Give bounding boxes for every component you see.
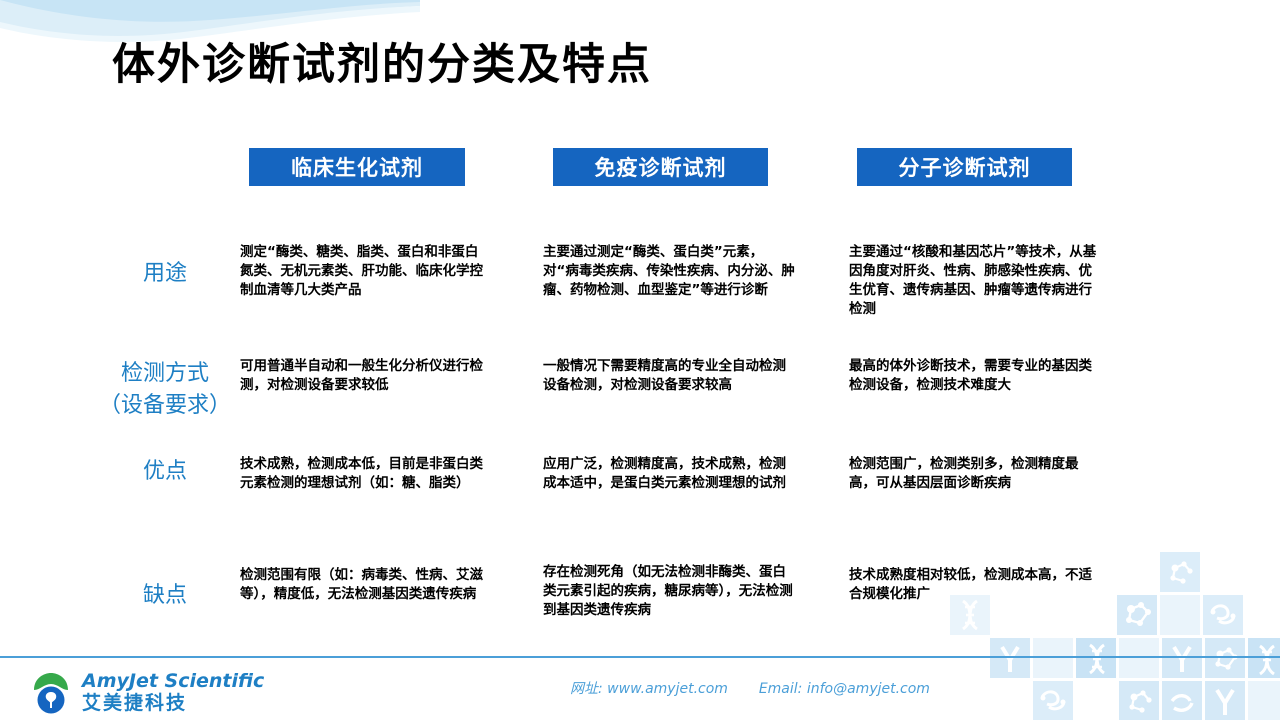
amyjet-logo-icon [28,670,74,714]
protein-icon [1033,681,1073,720]
footer-divider [0,656,1280,658]
brand-name-en: AmyJet Scientific [82,672,264,691]
column-header-molecular-diagnostic: 分子诊断试剂 [857,148,1072,186]
row-label-usage: 用途 [75,258,255,290]
molecule-icon [1117,595,1157,635]
blank-tile [1248,681,1280,720]
brand-name-cn: 艾美捷科技 [82,694,264,713]
molecule-icon [1160,552,1200,592]
table-cell-disadvantage-molecular: 技术成熟度相对较低，检测成本高，不适合规模化推广 [849,566,1101,604]
column-header-clinical-biochemistry: 临床生化试剂 [249,148,465,186]
dna-helix-icon [1248,638,1280,678]
brand-logo-text: AmyJet Scientific 艾美捷科技 [82,672,264,713]
email-address[interactable]: info@amyjet.com [807,681,930,697]
molecule-icon [1119,681,1159,720]
email-label: Email: [759,681,803,697]
row-label-advantages: 优点 [75,456,255,488]
blank-tile [1033,638,1073,678]
protein-icon [1162,681,1202,720]
row-label-detection-method-line1: 检测方式 [75,358,255,390]
table-cell-usage-immuno: 主要通过测定“酶类、蛋白类”元素，对“病毒类疾病、传染性疾病、内分泌、肿瘤、药物… [543,243,795,300]
antibody-icon [1162,638,1202,678]
website-url[interactable]: www.amyjet.com [607,681,728,697]
column-header-immunodiagnostic: 免疫诊断试剂 [553,148,768,186]
table-cell-advantage-immuno: 应用广泛，检测精度高，技术成熟，检测成本适中，是蛋白类元素检测理想的试剂 [543,455,795,493]
table-cell-advantage-molecular: 检测范围广，检测类别多，检测精度最高，可从基因层面诊断疾病 [849,455,1101,493]
table-cell-method-clinical: 可用普通半自动和一般生化分析仪进行检测，对检测设备要求较低 [240,357,490,395]
table-cell-method-molecular: 最高的体外诊断技术，需要专业的基因类检测设备，检测技术难度大 [849,357,1101,395]
protein-icon [1203,595,1243,635]
brand-logo: AmyJet Scientific 艾美捷科技 [28,670,264,714]
page-title: 体外诊断试剂的分类及特点 [112,30,652,92]
table-cell-disadvantage-immuno: 存在检测死角（如无法检测非酶类、蛋白类元素引起的疾病，糖尿病等），无法检测到基因… [543,563,795,620]
antibody-icon [990,638,1030,678]
blank-tile [1160,595,1200,635]
molecule-icon [1205,638,1245,678]
table-cell-advantage-clinical: 技术成熟，检测成本低，目前是非蛋白类元素检测的理想试剂（如：糖、脂类） [240,455,490,493]
dna-helix-icon [1076,638,1116,678]
blank-tile [1119,638,1159,678]
footer-contact-info: 网址: www.amyjet.com Email: info@amyjet.co… [570,678,930,698]
table-cell-usage-molecular: 主要通过“核酸和基因芯片”等技术，从基因角度对肝炎、性病、肺感染性疾病、优生优育… [849,243,1101,320]
website-label: 网址: [570,681,603,697]
table-cell-method-immuno: 一般情况下需要精度高的专业全自动检测设备检测，对检测设备要求较高 [543,357,795,395]
row-label-disadvantages: 缺点 [75,580,255,612]
row-label-detection-method: 检测方式 （设备要求） [75,358,255,422]
table-cell-usage-clinical: 测定“酶类、糖类、脂类、蛋白和非蛋白氮类、无机元素类、肝功能、临床化学控制血清等… [240,243,490,300]
antibody-icon [1205,681,1245,720]
row-label-detection-method-line2: （设备要求） [75,390,255,422]
table-cell-disadvantage-clinical: 检测范围有限（如：病毒类、性病、艾滋等），精度低，无法检测基因类遗传疾病 [240,566,490,604]
